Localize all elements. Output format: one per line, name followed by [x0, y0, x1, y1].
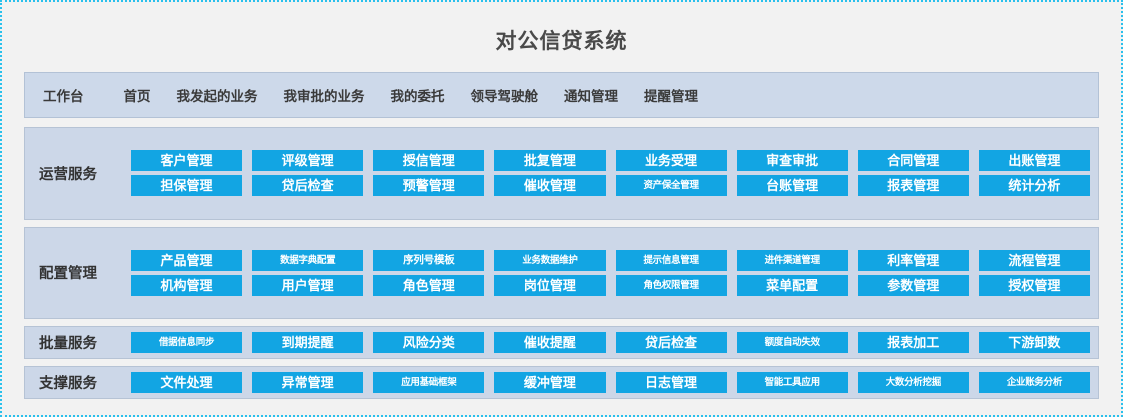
- section-label: 运营服务: [35, 163, 131, 184]
- module-button[interactable]: 到期提醒: [252, 332, 363, 353]
- module-button[interactable]: 产品管理: [131, 250, 242, 271]
- application-window: 对公信贷系统 工作台首页我发起的业务我审批的业务我的委托领导驾驶舱通知管理提醒管…: [0, 0, 1123, 417]
- module-section: 支撑服务文件处理异常管理应用基础框架缓冲管理日志管理智能工具应用大数分析挖掘企业…: [24, 366, 1099, 399]
- module-button[interactable]: 利率管理: [858, 250, 969, 271]
- nav-item[interactable]: 我审批的业务: [284, 85, 365, 105]
- module-button[interactable]: 流程管理: [979, 250, 1090, 271]
- page-title: 对公信贷系统: [496, 25, 628, 55]
- window-content: 对公信贷系统 工作台首页我发起的业务我审批的业务我的委托领导驾驶舱通知管理提醒管…: [10, 8, 1113, 409]
- module-button[interactable]: 进件渠道管理: [737, 250, 848, 271]
- module-button[interactable]: 菜单配置: [737, 275, 848, 296]
- module-button[interactable]: 催收提醒: [494, 332, 605, 353]
- module-grid: 文件处理异常管理应用基础框架缓冲管理日志管理智能工具应用大数分析挖掘企业账务分析: [131, 372, 1090, 393]
- nav-item[interactable]: 我的委托: [391, 85, 445, 105]
- module-button[interactable]: 下游卸数: [979, 332, 1090, 353]
- module-button[interactable]: 催收管理: [494, 175, 605, 196]
- module-button[interactable]: 合同管理: [858, 150, 969, 171]
- nav-item[interactable]: 提醒管理: [644, 85, 698, 105]
- main-navigation: 工作台首页我发起的业务我审批的业务我的委托领导驾驶舱通知管理提醒管理: [24, 72, 1099, 118]
- module-button[interactable]: 批复管理: [494, 150, 605, 171]
- nav-item[interactable]: 工作台: [43, 85, 84, 105]
- module-button[interactable]: 文件处理: [131, 372, 242, 393]
- title-bar: 对公信贷系统: [24, 8, 1099, 72]
- module-button[interactable]: 担保管理: [131, 175, 242, 196]
- module-sections: 运营服务客户管理评级管理授信管理批复管理业务受理审查审批合同管理出账管理担保管理…: [24, 127, 1099, 409]
- module-button[interactable]: 贷后检查: [252, 175, 363, 196]
- module-button[interactable]: 审查审批: [737, 150, 848, 171]
- module-button[interactable]: 业务受理: [616, 150, 727, 171]
- module-grid: 借据信息同步到期提醒风险分类催收提醒贷后检查额度自动失效报表加工下游卸数: [131, 332, 1090, 353]
- module-button[interactable]: 数据字典配置: [252, 250, 363, 271]
- module-button[interactable]: 授权管理: [979, 275, 1090, 296]
- module-grid: 产品管理数据字典配置序列号模板业务数据维护提示信息管理进件渠道管理利率管理流程管…: [131, 250, 1090, 296]
- module-button[interactable]: 异常管理: [252, 372, 363, 393]
- module-button[interactable]: 缓冲管理: [494, 372, 605, 393]
- module-button[interactable]: 额度自动失效: [737, 332, 848, 353]
- module-button[interactable]: 报表加工: [858, 332, 969, 353]
- module-button[interactable]: 智能工具应用: [737, 372, 848, 393]
- section-label: 批量服务: [35, 332, 131, 353]
- nav-item[interactable]: 领导驾驶舱: [471, 85, 539, 105]
- module-button[interactable]: 企业账务分析: [979, 372, 1090, 393]
- module-button[interactable]: 日志管理: [616, 372, 727, 393]
- module-button[interactable]: 报表管理: [858, 175, 969, 196]
- module-button[interactable]: 角色权限管理: [616, 275, 727, 296]
- section-label: 支撑服务: [35, 372, 131, 393]
- module-button[interactable]: 资产保全管理: [616, 175, 727, 196]
- nav-item[interactable]: 我发起的业务: [177, 85, 258, 105]
- module-section: 配置管理产品管理数据字典配置序列号模板业务数据维护提示信息管理进件渠道管理利率管…: [24, 227, 1099, 320]
- module-button[interactable]: 统计分析: [979, 175, 1090, 196]
- module-button[interactable]: 用户管理: [252, 275, 363, 296]
- module-button[interactable]: 岗位管理: [494, 275, 605, 296]
- section-label: 配置管理: [35, 262, 131, 283]
- module-grid: 客户管理评级管理授信管理批复管理业务受理审查审批合同管理出账管理担保管理贷后检查…: [131, 150, 1090, 196]
- module-button[interactable]: 借据信息同步: [131, 332, 242, 353]
- module-button[interactable]: 风险分类: [373, 332, 484, 353]
- module-button[interactable]: 授信管理: [373, 150, 484, 171]
- module-button[interactable]: 业务数据维护: [494, 250, 605, 271]
- module-section: 批量服务借据信息同步到期提醒风险分类催收提醒贷后检查额度自动失效报表加工下游卸数: [24, 326, 1099, 359]
- module-button[interactable]: 台账管理: [737, 175, 848, 196]
- module-section: 运营服务客户管理评级管理授信管理批复管理业务受理审查审批合同管理出账管理担保管理…: [24, 127, 1099, 220]
- nav-item[interactable]: 首页: [124, 85, 151, 105]
- module-button[interactable]: 机构管理: [131, 275, 242, 296]
- module-button[interactable]: 角色管理: [373, 275, 484, 296]
- module-button[interactable]: 参数管理: [858, 275, 969, 296]
- module-button[interactable]: 出账管理: [979, 150, 1090, 171]
- module-button[interactable]: 提示信息管理: [616, 250, 727, 271]
- module-button[interactable]: 大数分析挖掘: [858, 372, 969, 393]
- nav-item[interactable]: 通知管理: [564, 85, 618, 105]
- module-button[interactable]: 评级管理: [252, 150, 363, 171]
- module-button[interactable]: 贷后检查: [616, 332, 727, 353]
- module-button[interactable]: 应用基础框架: [373, 372, 484, 393]
- module-button[interactable]: 客户管理: [131, 150, 242, 171]
- module-button[interactable]: 序列号模板: [373, 250, 484, 271]
- module-button[interactable]: 预警管理: [373, 175, 484, 196]
